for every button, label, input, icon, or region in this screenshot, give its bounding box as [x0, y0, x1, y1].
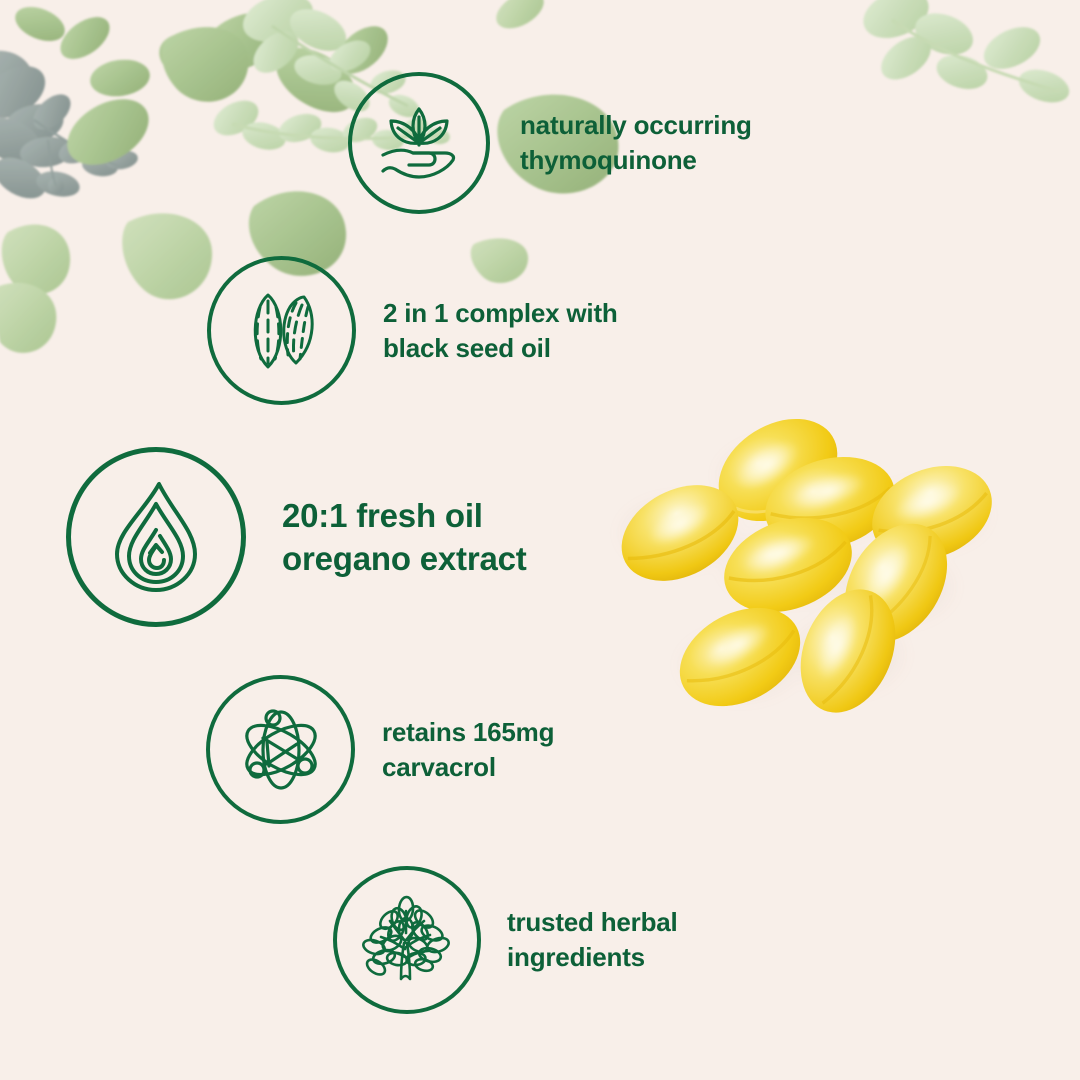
feature-label: retains 165mg carvacrol: [382, 715, 554, 785]
feature-naturally-occurring-thymoquinone: naturally occurring thymoquinone: [348, 72, 752, 214]
hand-holding-sprout-badge: [348, 72, 490, 214]
oil-droplet-spiral-badge: [66, 447, 246, 627]
herbal-tree-icon: [354, 887, 460, 993]
atom-molecule-badge: [206, 675, 355, 824]
feature-label: trusted herbal ingredients: [507, 905, 678, 975]
infographic-canvas: naturally occurring thymoquinone 2 in 1 …: [0, 0, 1080, 1080]
feature-trusted-herbal-ingredients: trusted herbal ingredients: [333, 866, 678, 1014]
herbal-tree-badge: [333, 866, 481, 1014]
hand-holding-sprout-icon: [369, 93, 469, 193]
feature-label: 2 in 1 complex with black seed oil: [383, 296, 618, 366]
oil-droplet-spiral-icon: [93, 474, 219, 600]
black-seeds-badge: [207, 256, 356, 405]
feature-20-to-1-fresh-oil-oregano-extract: 20:1 fresh oil oregano extract: [66, 447, 527, 627]
feature-retains-165mg-carvacrol: retains 165mg carvacrol: [206, 675, 554, 824]
atom-molecule-icon: [229, 698, 333, 802]
feature-2-in-1-complex-black-seed-oil: 2 in 1 complex with black seed oil: [207, 256, 618, 405]
softgel-capsules-photo: [600, 355, 1020, 725]
feature-label: naturally occurring thymoquinone: [520, 108, 752, 178]
black-seeds-icon: [230, 279, 334, 383]
feature-label: 20:1 fresh oil oregano extract: [282, 494, 527, 580]
